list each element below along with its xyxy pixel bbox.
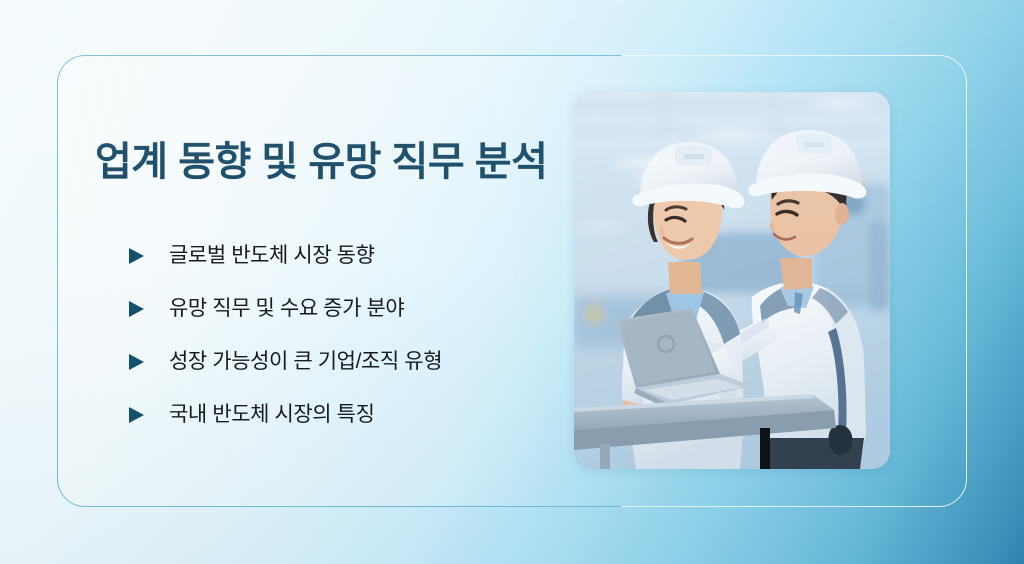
list-item[interactable]: 국내 반도체 시장의 특징: [95, 389, 555, 442]
page-title: 업계 동향 및 유망 직무 분석: [95, 140, 555, 186]
list-item-label: 글로벌 반도체 시장 동향: [169, 242, 375, 269]
photo-illustration: [574, 92, 890, 469]
triangle-right-icon: [129, 300, 145, 318]
topic-list: 글로벌 반도체 시장 동향 유망 직무 및 수요 증가 분야 성장 가능성이 큰…: [95, 230, 555, 442]
list-item-label: 국내 반도체 시장의 특징: [169, 401, 375, 428]
list-item[interactable]: 유망 직무 및 수요 증가 분야: [95, 283, 555, 336]
text-column: 업계 동향 및 유망 직무 분석 글로벌 반도체 시장 동향 유망 직무 및 수…: [95, 140, 555, 442]
triangle-right-icon: [129, 353, 145, 371]
list-item-label: 성장 가능성이 큰 기업/조직 유형: [169, 348, 442, 375]
list-item-label: 유망 직무 및 수요 증가 분야: [169, 295, 404, 322]
slide-canvas: 업계 동향 및 유망 직무 분석 글로벌 반도체 시장 동향 유망 직무 및 수…: [0, 0, 1024, 564]
list-item[interactable]: 글로벌 반도체 시장 동향: [95, 230, 555, 283]
triangle-right-icon: [129, 247, 145, 265]
engineers-with-laptop-photo: [574, 92, 890, 469]
list-item[interactable]: 성장 가능성이 큰 기업/조직 유형: [95, 336, 555, 389]
triangle-right-icon: [129, 406, 145, 424]
